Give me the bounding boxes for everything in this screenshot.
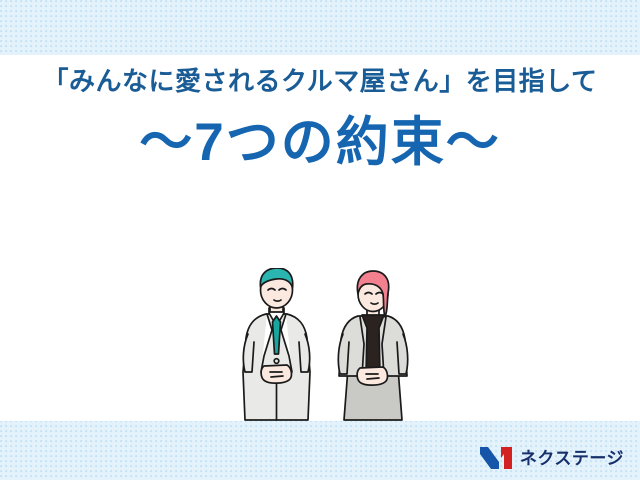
nextage-logo-text: ネクステージ: [520, 450, 624, 467]
female-arm-right: [397, 334, 408, 374]
male-staff-figure: [243, 268, 310, 420]
promo-banner: 「みんなに愛されるクルマ屋さん」を目指して 〜7つの約束〜: [0, 0, 640, 480]
male-jacket-button: [274, 359, 279, 364]
nextage-n-mark: [479, 446, 513, 470]
two-bowing-staff-illustration: [236, 268, 414, 426]
banner-subtitle: 「みんなに愛されるクルマ屋さん」を目指して: [0, 68, 640, 94]
nextage-logo: ネクステージ: [479, 446, 624, 470]
headline-text-block: 「みんなに愛されるクルマ屋さん」を目指して 〜7つの約束〜: [0, 0, 640, 169]
female-staff-figure: [338, 271, 407, 420]
banner-headline: 〜7つの約束〜: [0, 116, 640, 169]
female-arm-left: [338, 334, 349, 374]
male-tie: [273, 316, 281, 354]
female-clasped-hands: [357, 367, 387, 385]
male-clasped-hands: [261, 365, 291, 383]
n-mark-red-stroke: [501, 447, 512, 469]
n-mark-blue-stroke: [480, 447, 499, 469]
